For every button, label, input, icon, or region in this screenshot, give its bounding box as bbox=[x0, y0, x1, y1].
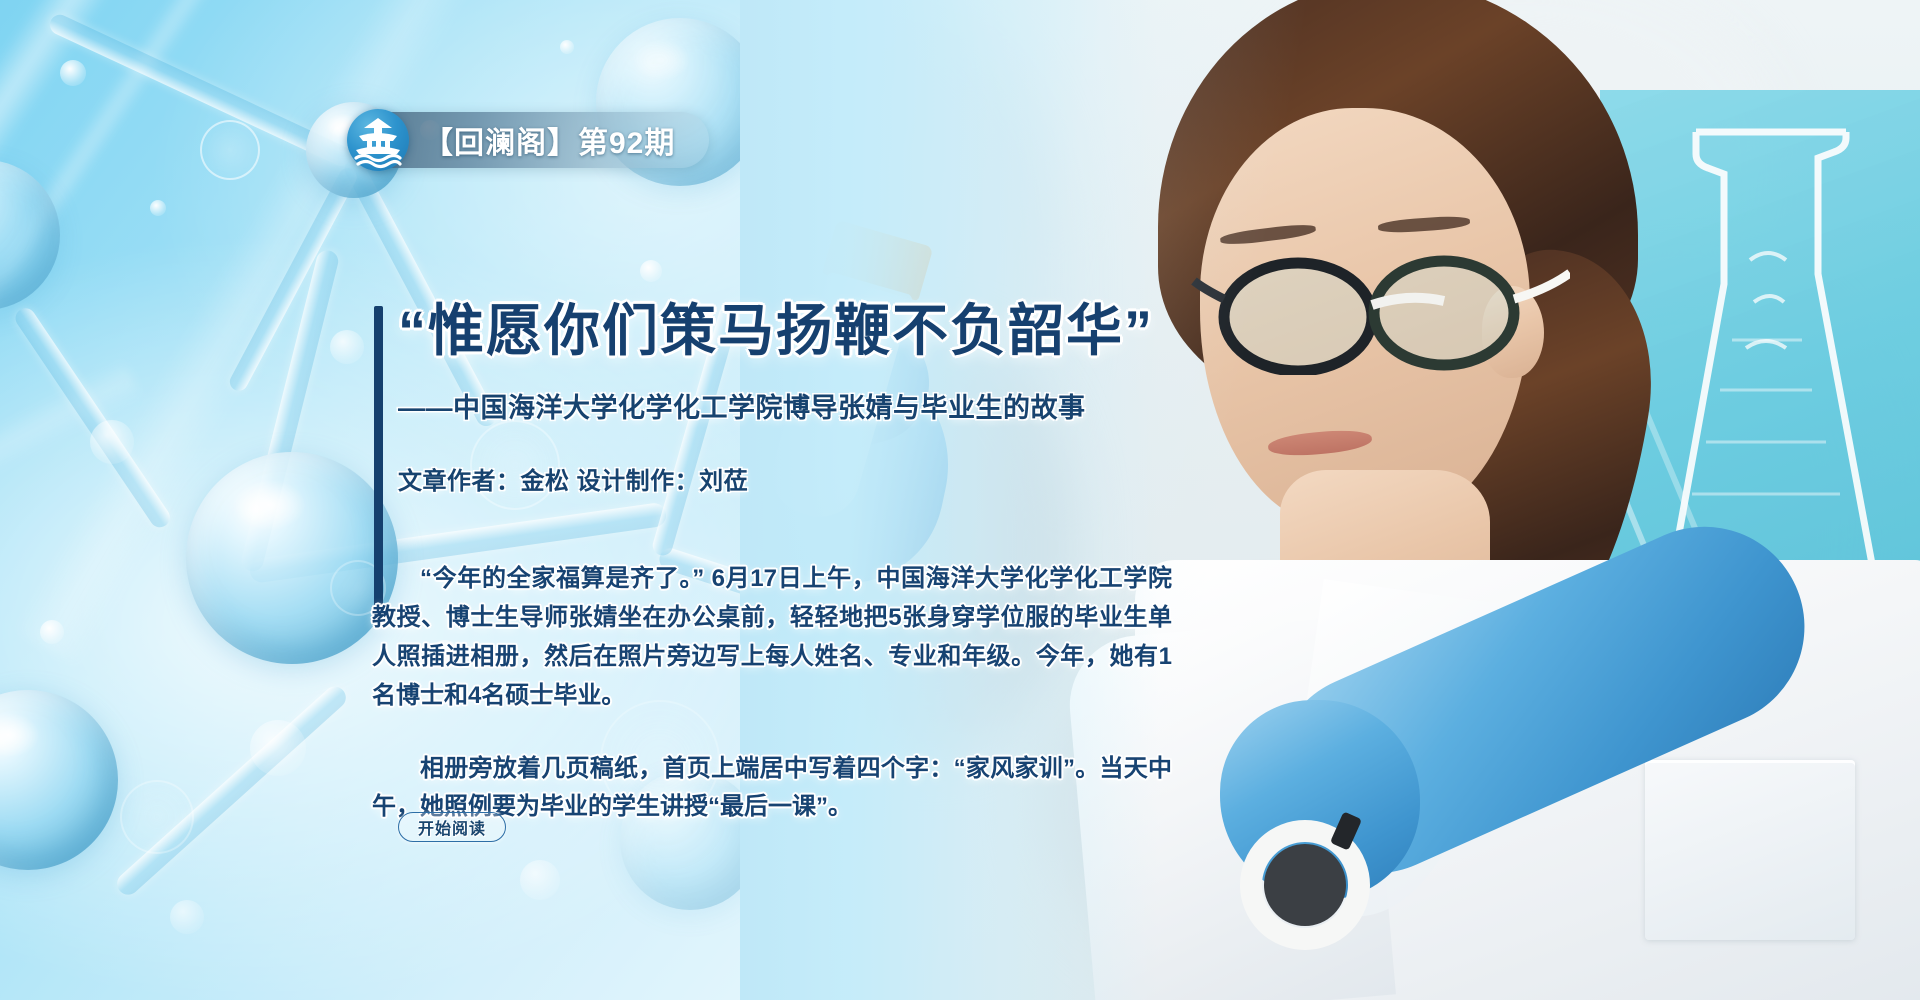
poster-content: 【回澜阁】第92期 “惟愿你们策马扬鞭不负韶华” ——中国海洋大学化学化工学院博… bbox=[0, 0, 1920, 1000]
page-title: “惟愿你们策马扬鞭不负韶华” bbox=[398, 300, 1278, 363]
poster-stage: 【回澜阁】第92期 “惟愿你们策马扬鞭不负韶华” ——中国海洋大学化学化工学院博… bbox=[0, 0, 1920, 1000]
article-header: “惟愿你们策马扬鞭不负韶华” ——中国海洋大学化学化工学院博导张婧与毕业生的故事… bbox=[398, 300, 1278, 497]
start-reading-button[interactable]: 开始阅读 bbox=[398, 812, 506, 842]
issue-badge[interactable]: 【回澜阁】第92期 bbox=[355, 112, 709, 168]
article-body: “今年的全家福算是齐了。” 6月17日上午，中国海洋大学化学化工学院教授、博士生… bbox=[372, 560, 1172, 827]
pavilion-waves-emblem-icon bbox=[347, 109, 409, 171]
issue-badge-label: 【回澜阁】第92期 bbox=[423, 118, 675, 162]
page-subtitle: ——中国海洋大学化学化工学院博导张婧与毕业生的故事 bbox=[398, 391, 1278, 426]
byline: 文章作者：金松 设计制作：刘莅 bbox=[398, 466, 1278, 497]
article-paragraph: “今年的全家福算是齐了。” 6月17日上午，中国海洋大学化学化工学院教授、博士生… bbox=[372, 560, 1172, 716]
